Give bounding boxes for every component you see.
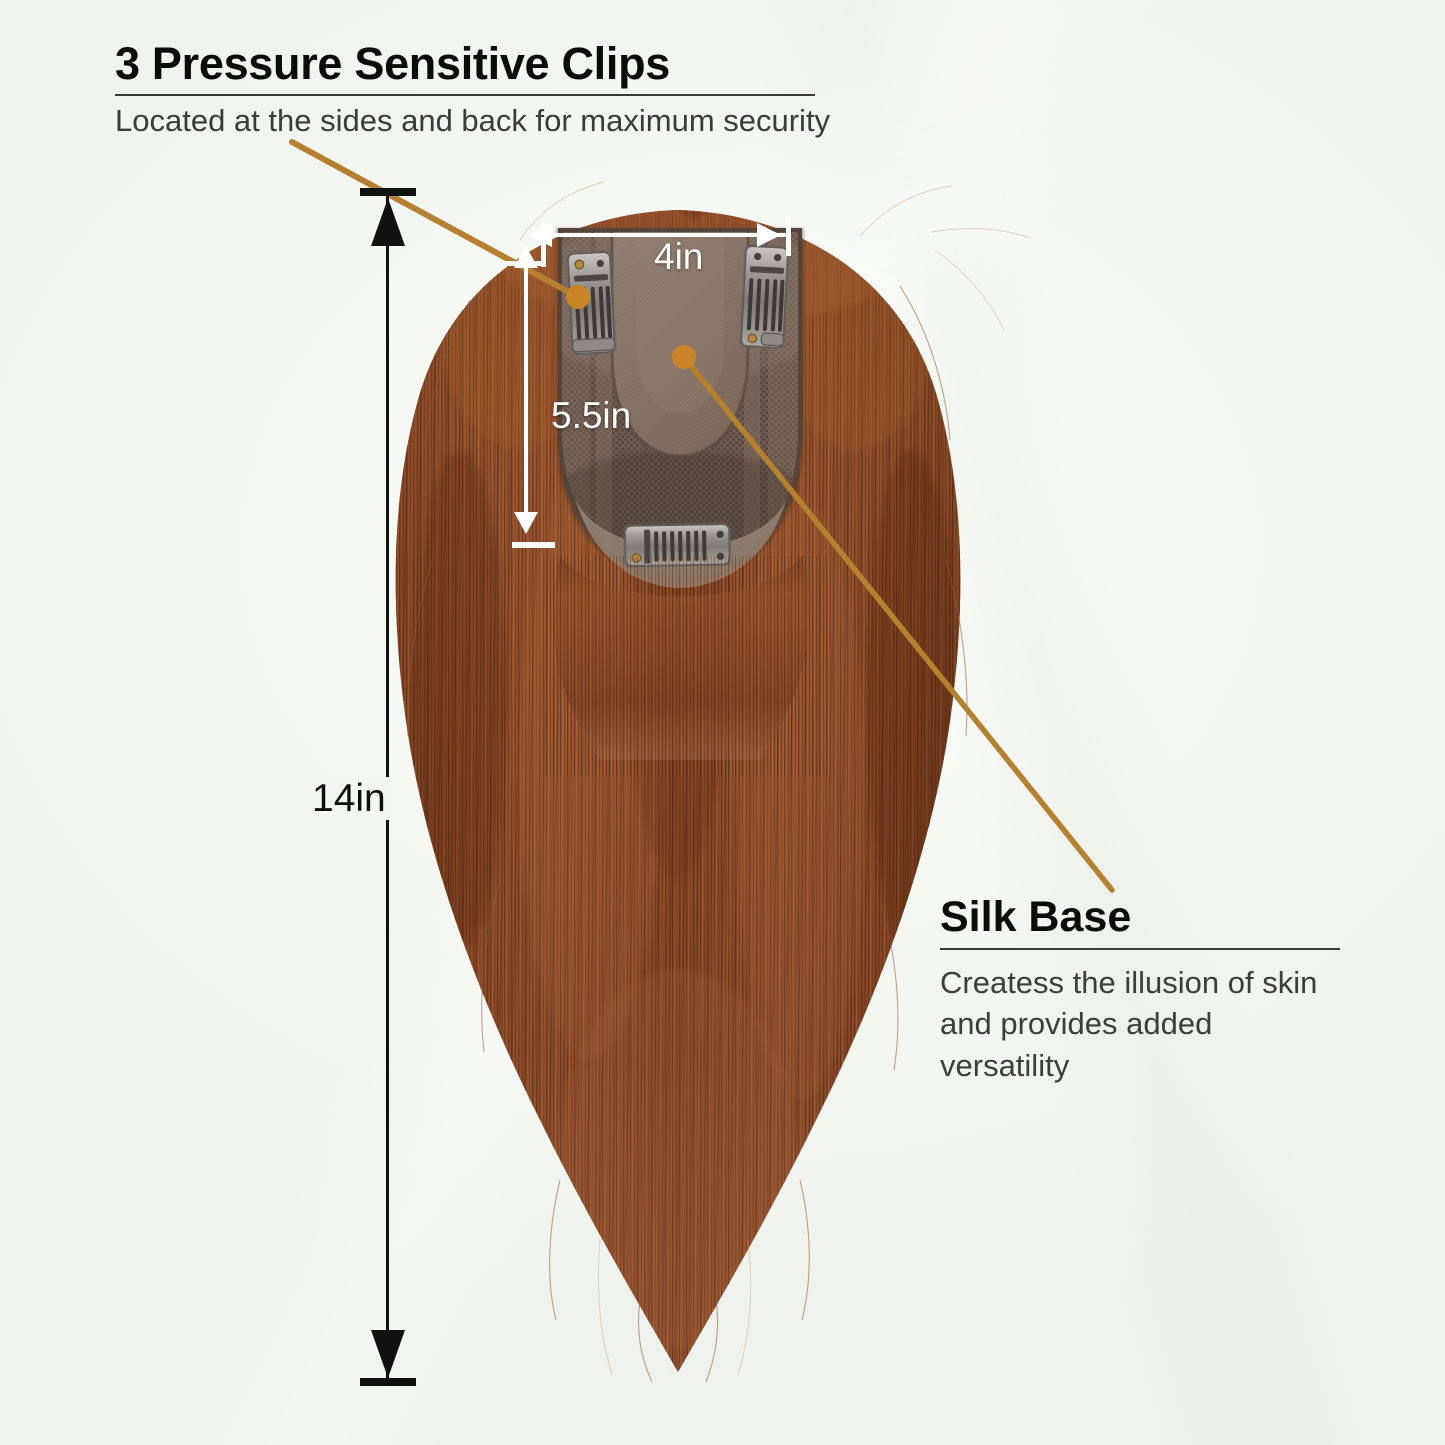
hair-length-arrow-down-icon xyxy=(371,1330,405,1378)
hair-length-bottom-cap xyxy=(360,1378,416,1386)
clips-callout-subtitle: Located at the sides and back for maximu… xyxy=(115,102,995,139)
base-length-dimension-line xyxy=(524,252,528,530)
hair-topper-image xyxy=(0,0,1445,1445)
base-length-bottom-cap xyxy=(512,542,555,548)
hair-length-label: 14in xyxy=(306,777,392,820)
base-width-label: 4in xyxy=(654,238,703,275)
base-length-label: 5.5in xyxy=(551,397,631,434)
silk-base-callout-title: Silk Base xyxy=(940,895,1370,940)
clips-callout-rule xyxy=(115,94,815,96)
silk-base-callout-description: Createss the illusion of skin and provid… xyxy=(940,962,1340,1086)
base-length-arrow-up-icon xyxy=(514,246,538,268)
hair-length-top-cap xyxy=(360,188,416,196)
base-width-right-tick xyxy=(786,216,791,256)
clip-left-icon xyxy=(566,250,617,356)
clips-callout: 3 Pressure Sensitive Clips Located at th… xyxy=(115,40,995,139)
hair-length-arrow-up-icon xyxy=(371,198,405,246)
base-length-arrow-down-icon xyxy=(514,512,538,534)
base-width-arrow-right-icon xyxy=(757,223,781,247)
clips-callout-title: 3 Pressure Sensitive Clips xyxy=(115,40,995,87)
base-width-arrow-left-icon xyxy=(528,223,552,247)
silk-base-callout: Silk Base Createss the illusion of skin … xyxy=(940,895,1370,1086)
silk-base-callout-rule xyxy=(940,948,1340,950)
clip-right-icon xyxy=(739,244,790,350)
infographic-canvas: 14in 4in 5.5in 3 Pressure Sensitive Clip… xyxy=(0,0,1445,1445)
